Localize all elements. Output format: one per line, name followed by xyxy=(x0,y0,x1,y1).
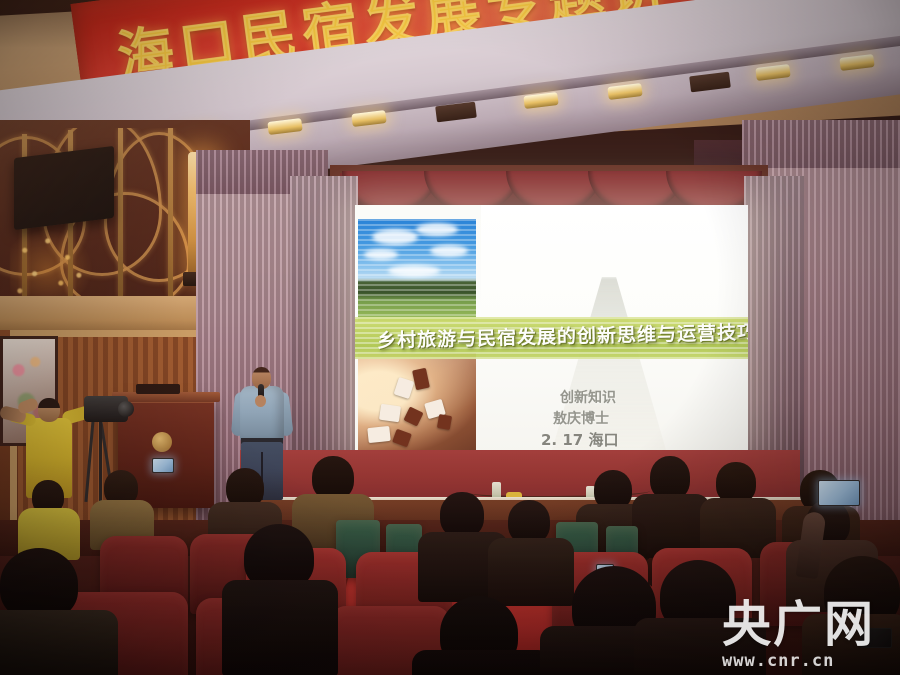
curtain-right-header xyxy=(742,120,900,168)
paper-chip xyxy=(392,429,412,448)
conference-hall-photo: 海口民宿发展专题讲 xyxy=(0,0,900,675)
audience-torso xyxy=(634,618,766,675)
smartphone-screen[interactable] xyxy=(860,628,892,648)
lattice-bar xyxy=(168,128,173,296)
projection-screen: 乡村旅游与民宿发展的创新思维与运营技巧 创新知识 敖庆博士 2. 17 海口 xyxy=(355,205,748,455)
audience-torso xyxy=(412,650,552,675)
podium-laptop xyxy=(136,384,180,394)
paper-chip xyxy=(367,426,390,443)
audience-torso xyxy=(0,610,118,675)
speaker-hand xyxy=(255,395,266,407)
slide-photo-warm xyxy=(358,353,476,453)
podium-emblem xyxy=(152,432,172,452)
stage-valance xyxy=(340,173,760,209)
paper-chip xyxy=(403,406,423,426)
slide-subtitle-line-3: 2. 17 海口 xyxy=(541,429,741,450)
slide-photo-sky xyxy=(358,219,476,321)
smartphone-screen[interactable] xyxy=(152,458,174,473)
audience-torso xyxy=(222,580,338,675)
stage-curtain-right xyxy=(744,176,804,496)
lattice-bar xyxy=(118,128,123,296)
cameraman-head xyxy=(38,398,60,422)
paper-chip xyxy=(394,377,415,399)
paper-chip xyxy=(437,414,452,430)
screen-scanlines xyxy=(358,219,476,321)
wall-speaker-icon xyxy=(14,146,114,230)
audience-torso xyxy=(488,538,574,606)
slide-subtitle-line-1: 创新知识 xyxy=(560,387,748,407)
paper-chip xyxy=(412,368,430,390)
tripod-leg xyxy=(99,420,102,508)
smartphone-screen[interactable] xyxy=(818,480,860,506)
camera-lens-icon xyxy=(118,401,134,417)
stage-curtain-left xyxy=(290,176,358,496)
paper-chip xyxy=(379,404,401,423)
slide-subtitle-line-2: 敖庆博士 xyxy=(553,408,748,428)
